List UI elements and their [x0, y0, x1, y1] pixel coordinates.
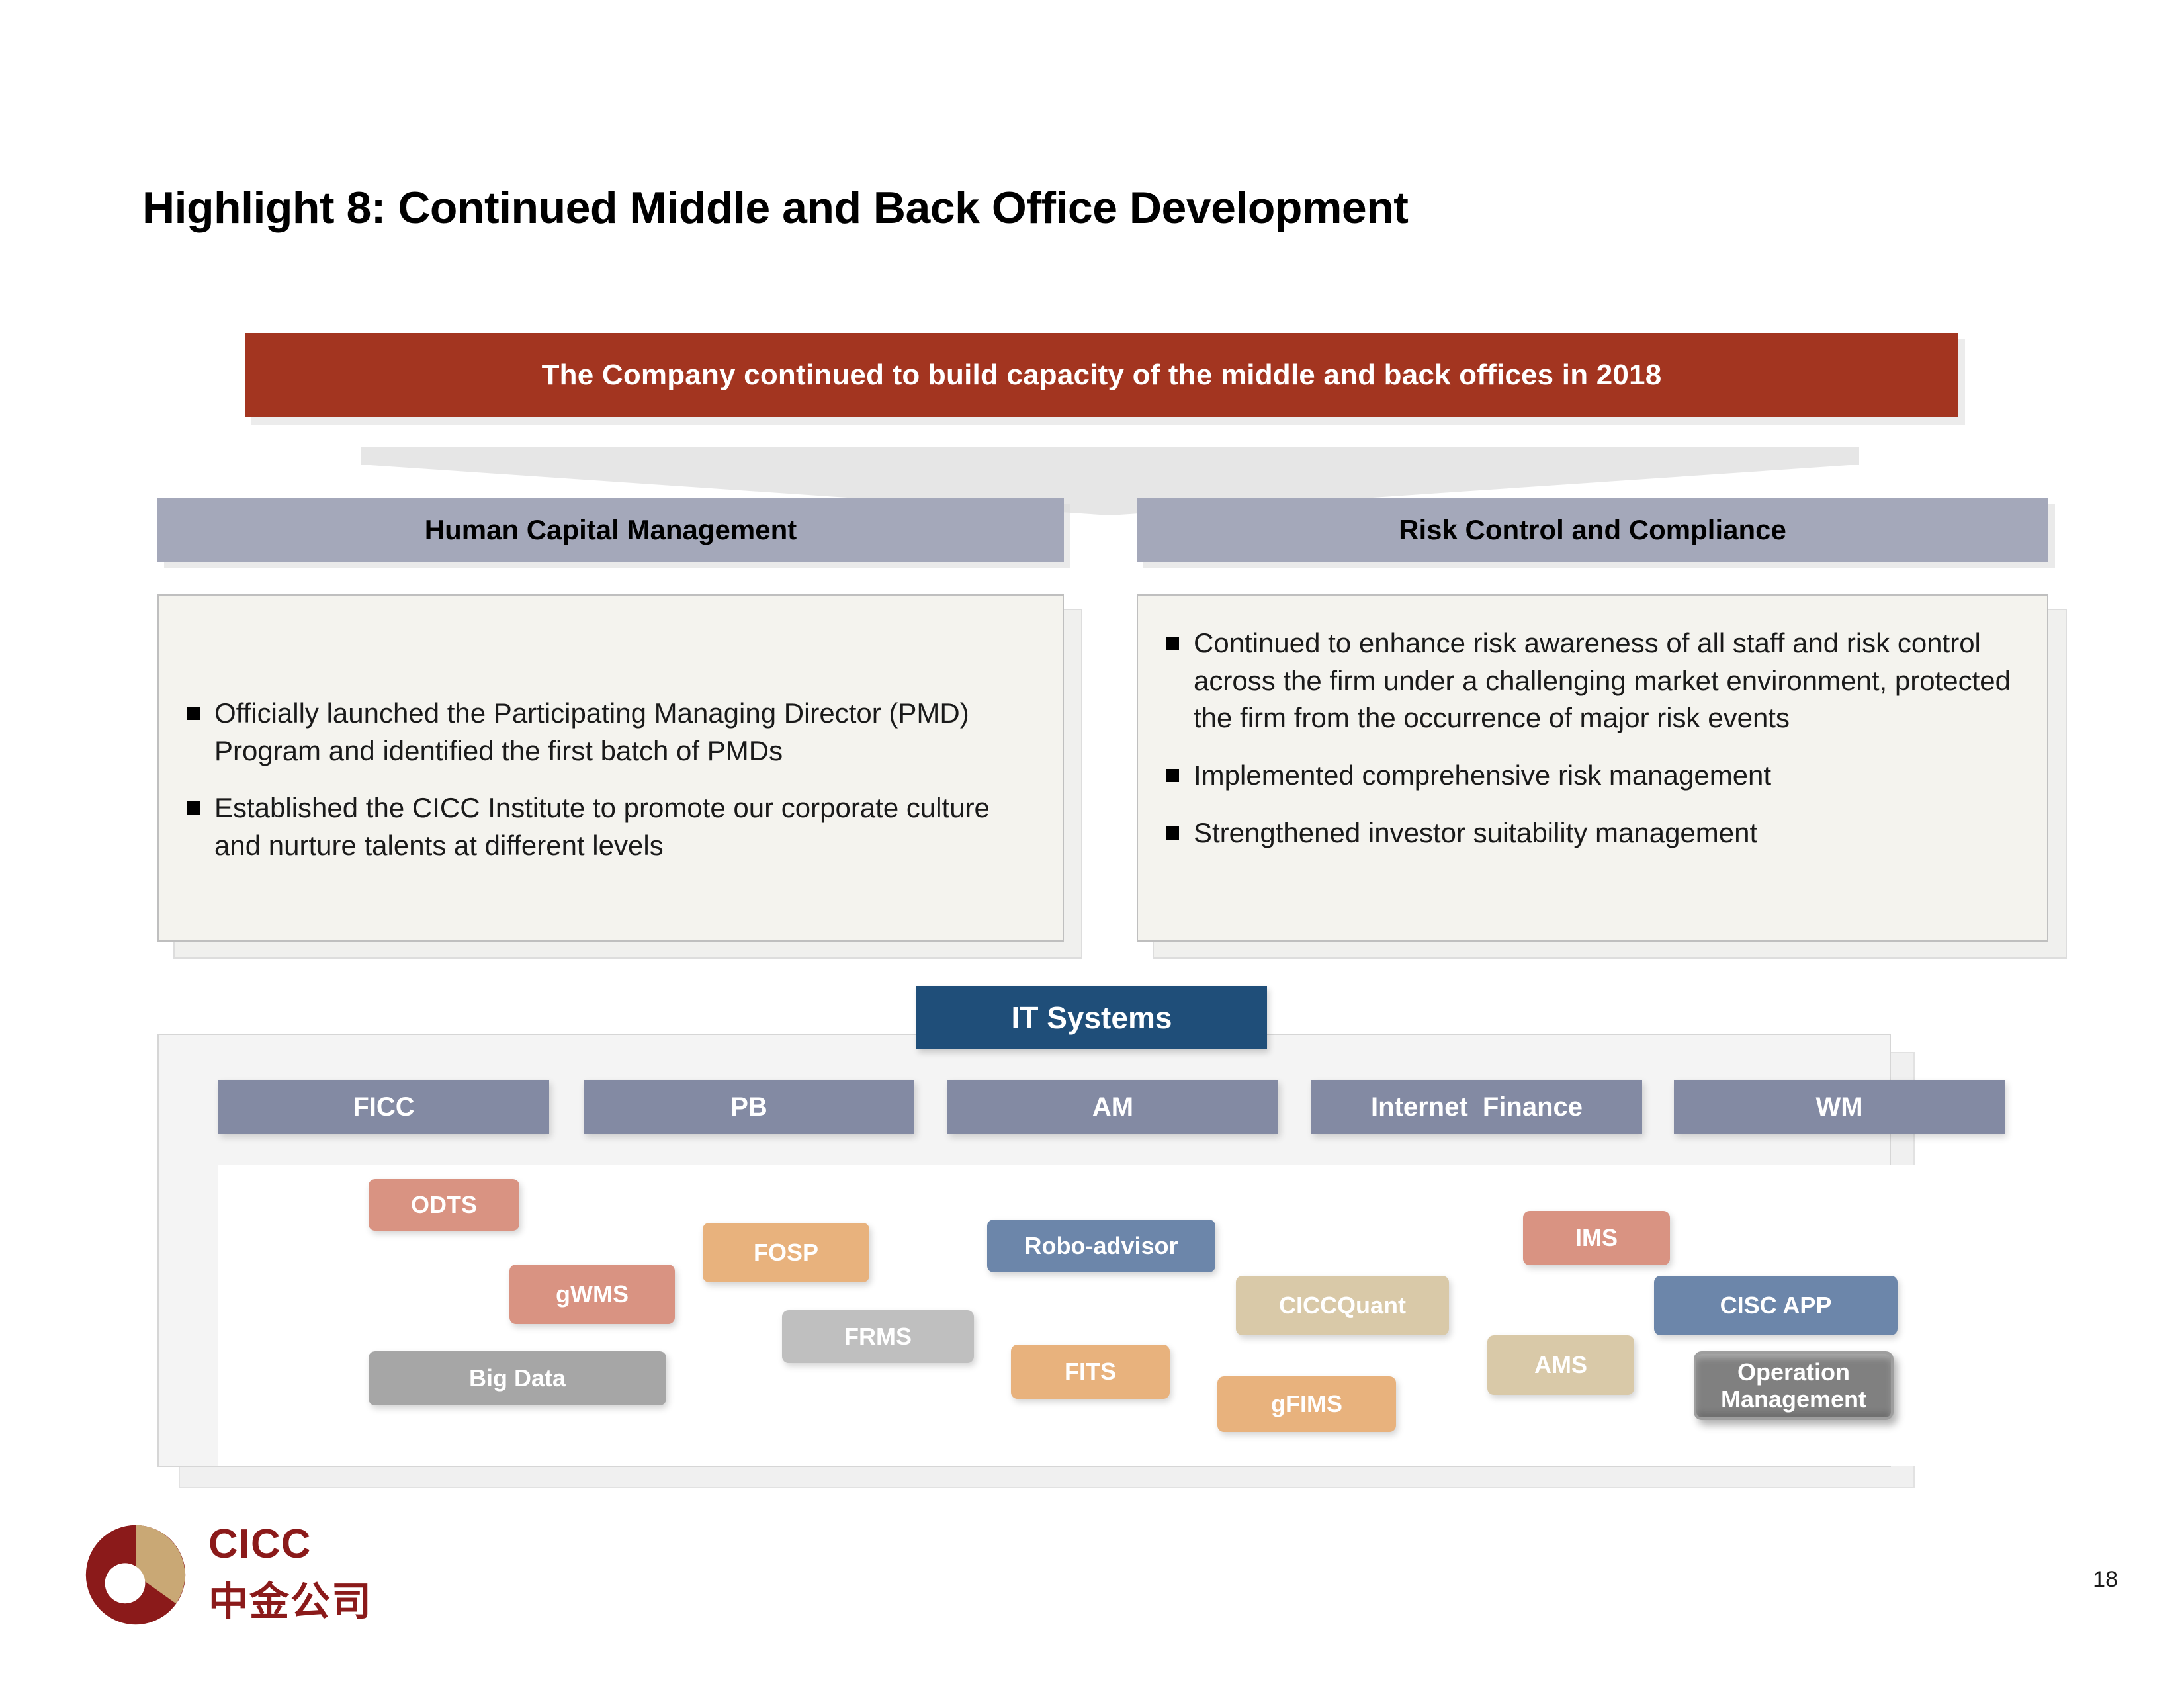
cicc-logo-en-text: CICC	[208, 1521, 312, 1568]
square-bullet-icon	[1166, 826, 1179, 840]
headline-banner-text: The Company continued to build capacity …	[542, 359, 1662, 392]
it-category-bar-am[interactable]: AM	[947, 1080, 1278, 1134]
content-box-human-capital: Officially launched the Participating Ma…	[157, 594, 1064, 942]
square-bullet-icon	[187, 707, 200, 720]
it-system-tag-big-data[interactable]: Big Data	[369, 1351, 666, 1405]
headline-banner: The Company continued to build capacity …	[245, 333, 1958, 417]
it-system-tag-robo-advisor[interactable]: Robo-advisor	[987, 1220, 1215, 1272]
page-title: Highlight 8: Continued Middle and Back O…	[142, 182, 1408, 234]
bullet-list-human-capital: Officially launched the Participating Ma…	[159, 596, 1063, 885]
it-category-bar-label: FICC	[353, 1092, 414, 1122]
it-system-tag-label: FRMS	[844, 1323, 912, 1350]
it-system-tag-fosp[interactable]: FOSP	[703, 1223, 869, 1282]
list-item-text: Established the CICC Institute to promot…	[214, 789, 1043, 864]
slide-canvas: Highlight 8: Continued Middle and Back O…	[0, 0, 2184, 1688]
it-category-bar-label: WM	[1815, 1092, 1862, 1122]
it-system-tag-operation-management[interactable]: Operation Management	[1694, 1351, 1894, 1420]
it-system-tag-odts[interactable]: ODTS	[369, 1179, 519, 1231]
list-item: Implemented comprehensive risk managemen…	[1166, 757, 2027, 795]
list-item: Established the CICC Institute to promot…	[187, 789, 1043, 864]
it-system-tag-label: gWMS	[556, 1280, 629, 1308]
it-systems-tab-label: IT Systems	[1012, 1000, 1172, 1036]
square-bullet-icon	[187, 801, 200, 815]
list-item-text: Implemented comprehensive risk managemen…	[1194, 757, 1771, 795]
it-system-tag-label: Robo-advisor	[1024, 1232, 1178, 1259]
page-number: 18	[2093, 1567, 2118, 1593]
content-box-risk-control: Continued to enhance risk awareness of a…	[1137, 594, 2048, 942]
it-system-tag-gfims[interactable]: gFIMS	[1217, 1376, 1396, 1432]
it-system-tag-ciccquant[interactable]: CICCQuant	[1236, 1276, 1449, 1335]
it-system-tag-label: Operation Management	[1721, 1358, 1866, 1413]
list-item: Officially launched the Participating Ma…	[187, 695, 1043, 770]
it-category-bar-ficc[interactable]: FICC	[218, 1080, 549, 1134]
it-category-bar-internet-finance[interactable]: Internet Finance	[1311, 1080, 1642, 1134]
it-system-tag-label: IMS	[1575, 1224, 1618, 1251]
it-system-tag-ims[interactable]: IMS	[1523, 1211, 1670, 1265]
square-bullet-icon	[1166, 637, 1179, 650]
it-system-tag-label: CICCQuant	[1279, 1292, 1406, 1319]
it-system-tag-cisc-app[interactable]: CISC APP	[1654, 1276, 1898, 1335]
cicc-logo: CICC 中金公司	[83, 1522, 440, 1631]
it-category-bar-pb[interactable]: PB	[584, 1080, 914, 1134]
it-system-tag-label: ODTS	[411, 1191, 477, 1218]
it-category-bar-wm[interactable]: WM	[1674, 1080, 2005, 1134]
section-header-left-label: Human Capital Management	[425, 514, 797, 546]
list-item-text: Strengthened investor suitability manage…	[1194, 815, 1757, 852]
cicc-logo-mark-icon	[83, 1522, 189, 1628]
cicc-logo-cn-text: 中金公司	[208, 1570, 372, 1627]
it-system-tag-label: gFIMS	[1271, 1390, 1342, 1417]
list-item-text: Continued to enhance risk awareness of a…	[1194, 625, 2027, 737]
it-system-tag-label: Big Data	[469, 1364, 566, 1392]
it-system-tag-frms[interactable]: FRMS	[782, 1310, 974, 1363]
list-item-text: Officially launched the Participating Ma…	[214, 695, 1043, 770]
it-systems-tab: IT Systems	[916, 986, 1267, 1049]
section-header-human-capital: Human Capital Management	[157, 498, 1064, 562]
list-item: Continued to enhance risk awareness of a…	[1166, 625, 2027, 737]
it-system-tag-ams[interactable]: AMS	[1487, 1335, 1634, 1395]
it-system-tag-label: FITS	[1065, 1358, 1116, 1385]
it-category-bar-label: AM	[1092, 1092, 1133, 1122]
square-bullet-icon	[1166, 769, 1179, 782]
it-category-bar-label: PB	[730, 1092, 767, 1122]
section-header-risk-control: Risk Control and Compliance	[1137, 498, 2048, 562]
it-system-tag-label: AMS	[1534, 1351, 1587, 1378]
it-system-tag-gwms[interactable]: gWMS	[509, 1265, 675, 1324]
bullet-list-risk-control: Continued to enhance risk awareness of a…	[1138, 596, 2047, 871]
it-system-tag-label: CISC APP	[1720, 1292, 1832, 1319]
it-category-bar-label: Internet Finance	[1371, 1092, 1583, 1122]
it-system-tag-fits[interactable]: FITS	[1011, 1345, 1170, 1399]
it-system-tag-label: FOSP	[754, 1239, 818, 1266]
section-header-right-label: Risk Control and Compliance	[1399, 514, 1786, 546]
list-item: Strengthened investor suitability manage…	[1166, 815, 2027, 852]
